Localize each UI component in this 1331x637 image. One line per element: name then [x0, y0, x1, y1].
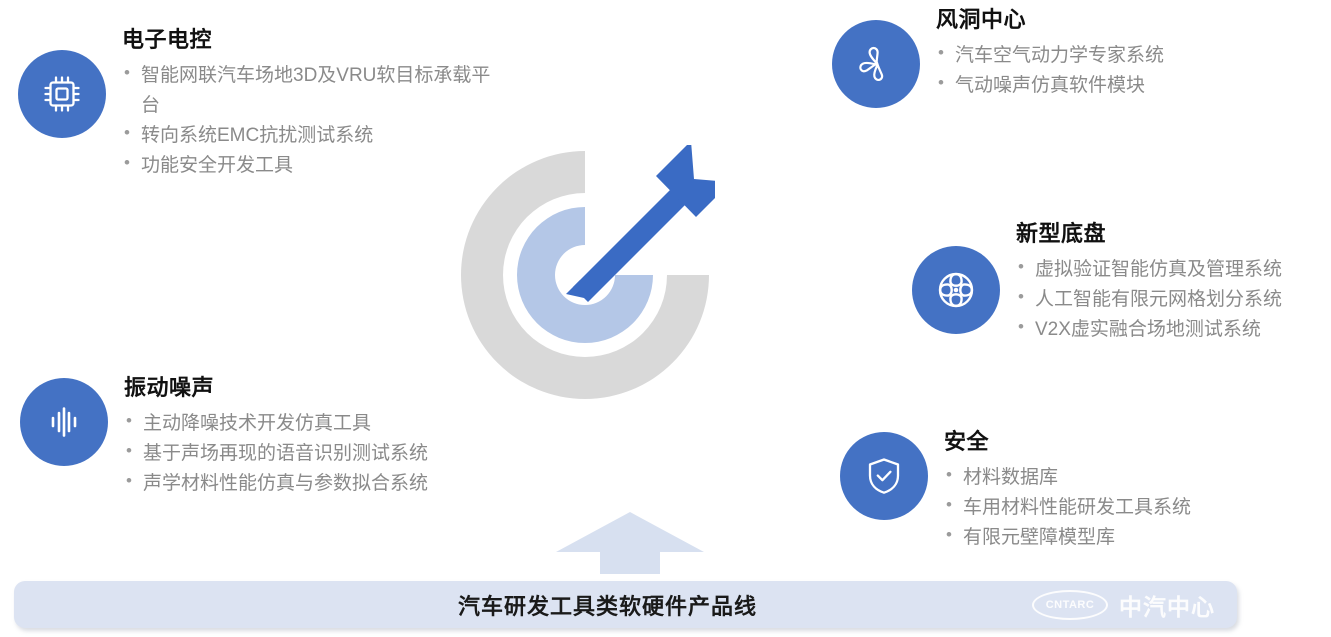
list-item: 气动噪声仿真软件模块: [936, 71, 1164, 101]
nvh-bullet-list: 主动降噪技术开发仿真工具 基于声场再现的语音识别测试系统 声学材料性能仿真与参数…: [124, 409, 428, 499]
list-item: 汽车空气动力学专家系统: [936, 41, 1164, 71]
nvh-heading: 振动噪声: [124, 376, 428, 400]
shield-check-icon: [861, 453, 907, 499]
waveform-icon: [41, 399, 87, 445]
windtunnel-bullet-list: 汽车空气动力学专家系统 气动噪声仿真软件模块: [936, 41, 1164, 101]
list-item: 人工智能有限元网格划分系统: [1016, 285, 1282, 315]
chassis-icon-bubble: [912, 246, 1000, 334]
list-item: 功能安全开发工具: [122, 151, 493, 181]
windtunnel-icon-bubble: [832, 20, 920, 108]
target-graphic: [455, 145, 715, 405]
diagram-canvas: 电子电控 智能网联汽车场地3D及VRU软目标承载平台 转向系统EMC抗扰测试系统…: [0, 0, 1331, 637]
bottom-banner: 汽车研发工具类软硬件产品线 CNTARC 中汽中心: [14, 581, 1237, 628]
list-item: 转向系统EMC抗扰测试系统: [122, 121, 493, 151]
list-item: 主动降噪技术开发仿真工具: [124, 409, 428, 439]
logo-mark-text: CNTARC: [1046, 599, 1095, 611]
safety-text-block: 安全 材料数据库 车用材料性能研发工具系统 有限元壁障模型库: [944, 430, 1191, 553]
list-item: 有限元壁障模型库: [944, 523, 1191, 553]
logo-text: 中汽中心: [1119, 588, 1215, 622]
item-windtunnel[interactable]: 风洞中心 汽车空气动力学专家系统 气动噪声仿真软件模块: [832, 8, 1164, 108]
ecu-bullet-list: 智能网联汽车场地3D及VRU软目标承载平台 转向系统EMC抗扰测试系统 功能安全…: [122, 61, 493, 181]
chip-icon: [39, 71, 85, 117]
chassis-bullet-list: 虚拟验证智能仿真及管理系统 人工智能有限元网格划分系统 V2X虚实融合场地测试系…: [1016, 255, 1282, 345]
ecu-text-block: 电子电控 智能网联汽车场地3D及VRU软目标承载平台 转向系统EMC抗扰测试系统…: [122, 28, 493, 181]
item-nvh[interactable]: 振动噪声 主动降噪技术开发仿真工具 基于声场再现的语音识别测试系统 声学材料性能…: [20, 376, 428, 499]
list-item: 虚拟验证智能仿真及管理系统: [1016, 255, 1282, 285]
chassis-text-block: 新型底盘 虚拟验证智能仿真及管理系统 人工智能有限元网格划分系统 V2X虚实融合…: [1016, 222, 1282, 345]
ecu-heading: 电子电控: [122, 28, 493, 52]
item-ecu[interactable]: 电子电控 智能网联汽车场地3D及VRU软目标承载平台 转向系统EMC抗扰测试系统…: [18, 28, 493, 181]
ecu-icon-bubble: [18, 50, 106, 138]
safety-bullet-list: 材料数据库 车用材料性能研发工具系统 有限元壁障模型库: [944, 463, 1191, 553]
catarc-logo: CNTARC 中汽中心: [1032, 588, 1215, 622]
list-item: 声学材料性能仿真与参数拟合系统: [124, 469, 428, 499]
item-chassis[interactable]: 新型底盘 虚拟验证智能仿真及管理系统 人工智能有限元网格划分系统 V2X虚实融合…: [912, 222, 1282, 345]
logo-oval-mark: CNTARC: [1032, 590, 1108, 620]
list-item: 基于声场再现的语音识别测试系统: [124, 439, 428, 469]
list-item: V2X虚实融合场地测试系统: [1016, 315, 1282, 345]
list-item: 材料数据库: [944, 463, 1191, 493]
chassis-heading: 新型底盘: [1016, 222, 1282, 246]
safety-icon-bubble: [840, 432, 928, 520]
up-arrow-icon: [556, 512, 704, 574]
nvh-text-block: 振动噪声 主动降噪技术开发仿真工具 基于声场再现的语音识别测试系统 声学材料性能…: [124, 376, 428, 499]
list-item: 车用材料性能研发工具系统: [944, 493, 1191, 523]
windtunnel-heading: 风洞中心: [936, 8, 1164, 32]
safety-heading: 安全: [944, 430, 1191, 454]
windtunnel-text-block: 风洞中心 汽车空气动力学专家系统 气动噪声仿真软件模块: [936, 8, 1164, 101]
item-safety[interactable]: 安全 材料数据库 车用材料性能研发工具系统 有限元壁障模型库: [840, 430, 1191, 553]
fan-icon: [853, 41, 899, 87]
nvh-icon-bubble: [20, 378, 108, 466]
list-item: 智能网联汽车场地3D及VRU软目标承载平台: [122, 61, 493, 121]
banner-title: 汽车研发工具类软硬件产品线: [458, 589, 757, 621]
wheel-icon: [933, 267, 979, 313]
